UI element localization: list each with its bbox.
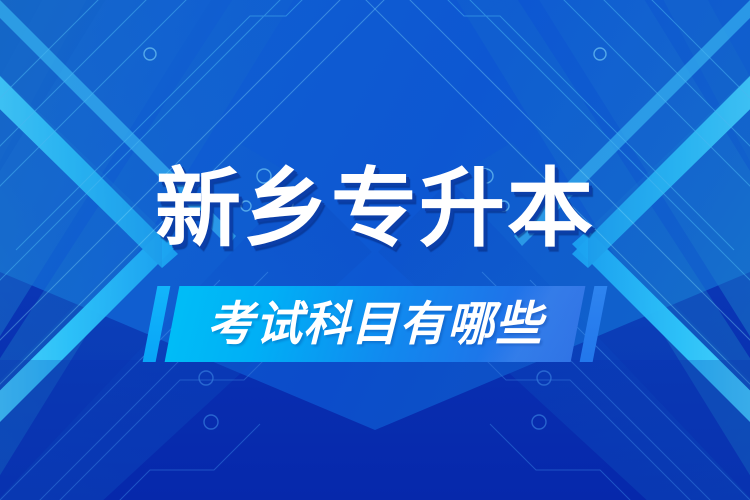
title-block: 新乡专升本 [0,161,750,257]
poster-banner: 新乡专升本 考试科目有哪些 [0,0,750,500]
banner-accent-bar-right [580,286,608,362]
subtitle-banner-row: 考试科目有哪些 [0,286,750,364]
page-subtitle: 考试科目有哪些 [207,298,543,350]
subtitle-banner: 考试科目有哪些 [165,286,586,362]
page-title: 新乡专升本 [155,161,595,257]
